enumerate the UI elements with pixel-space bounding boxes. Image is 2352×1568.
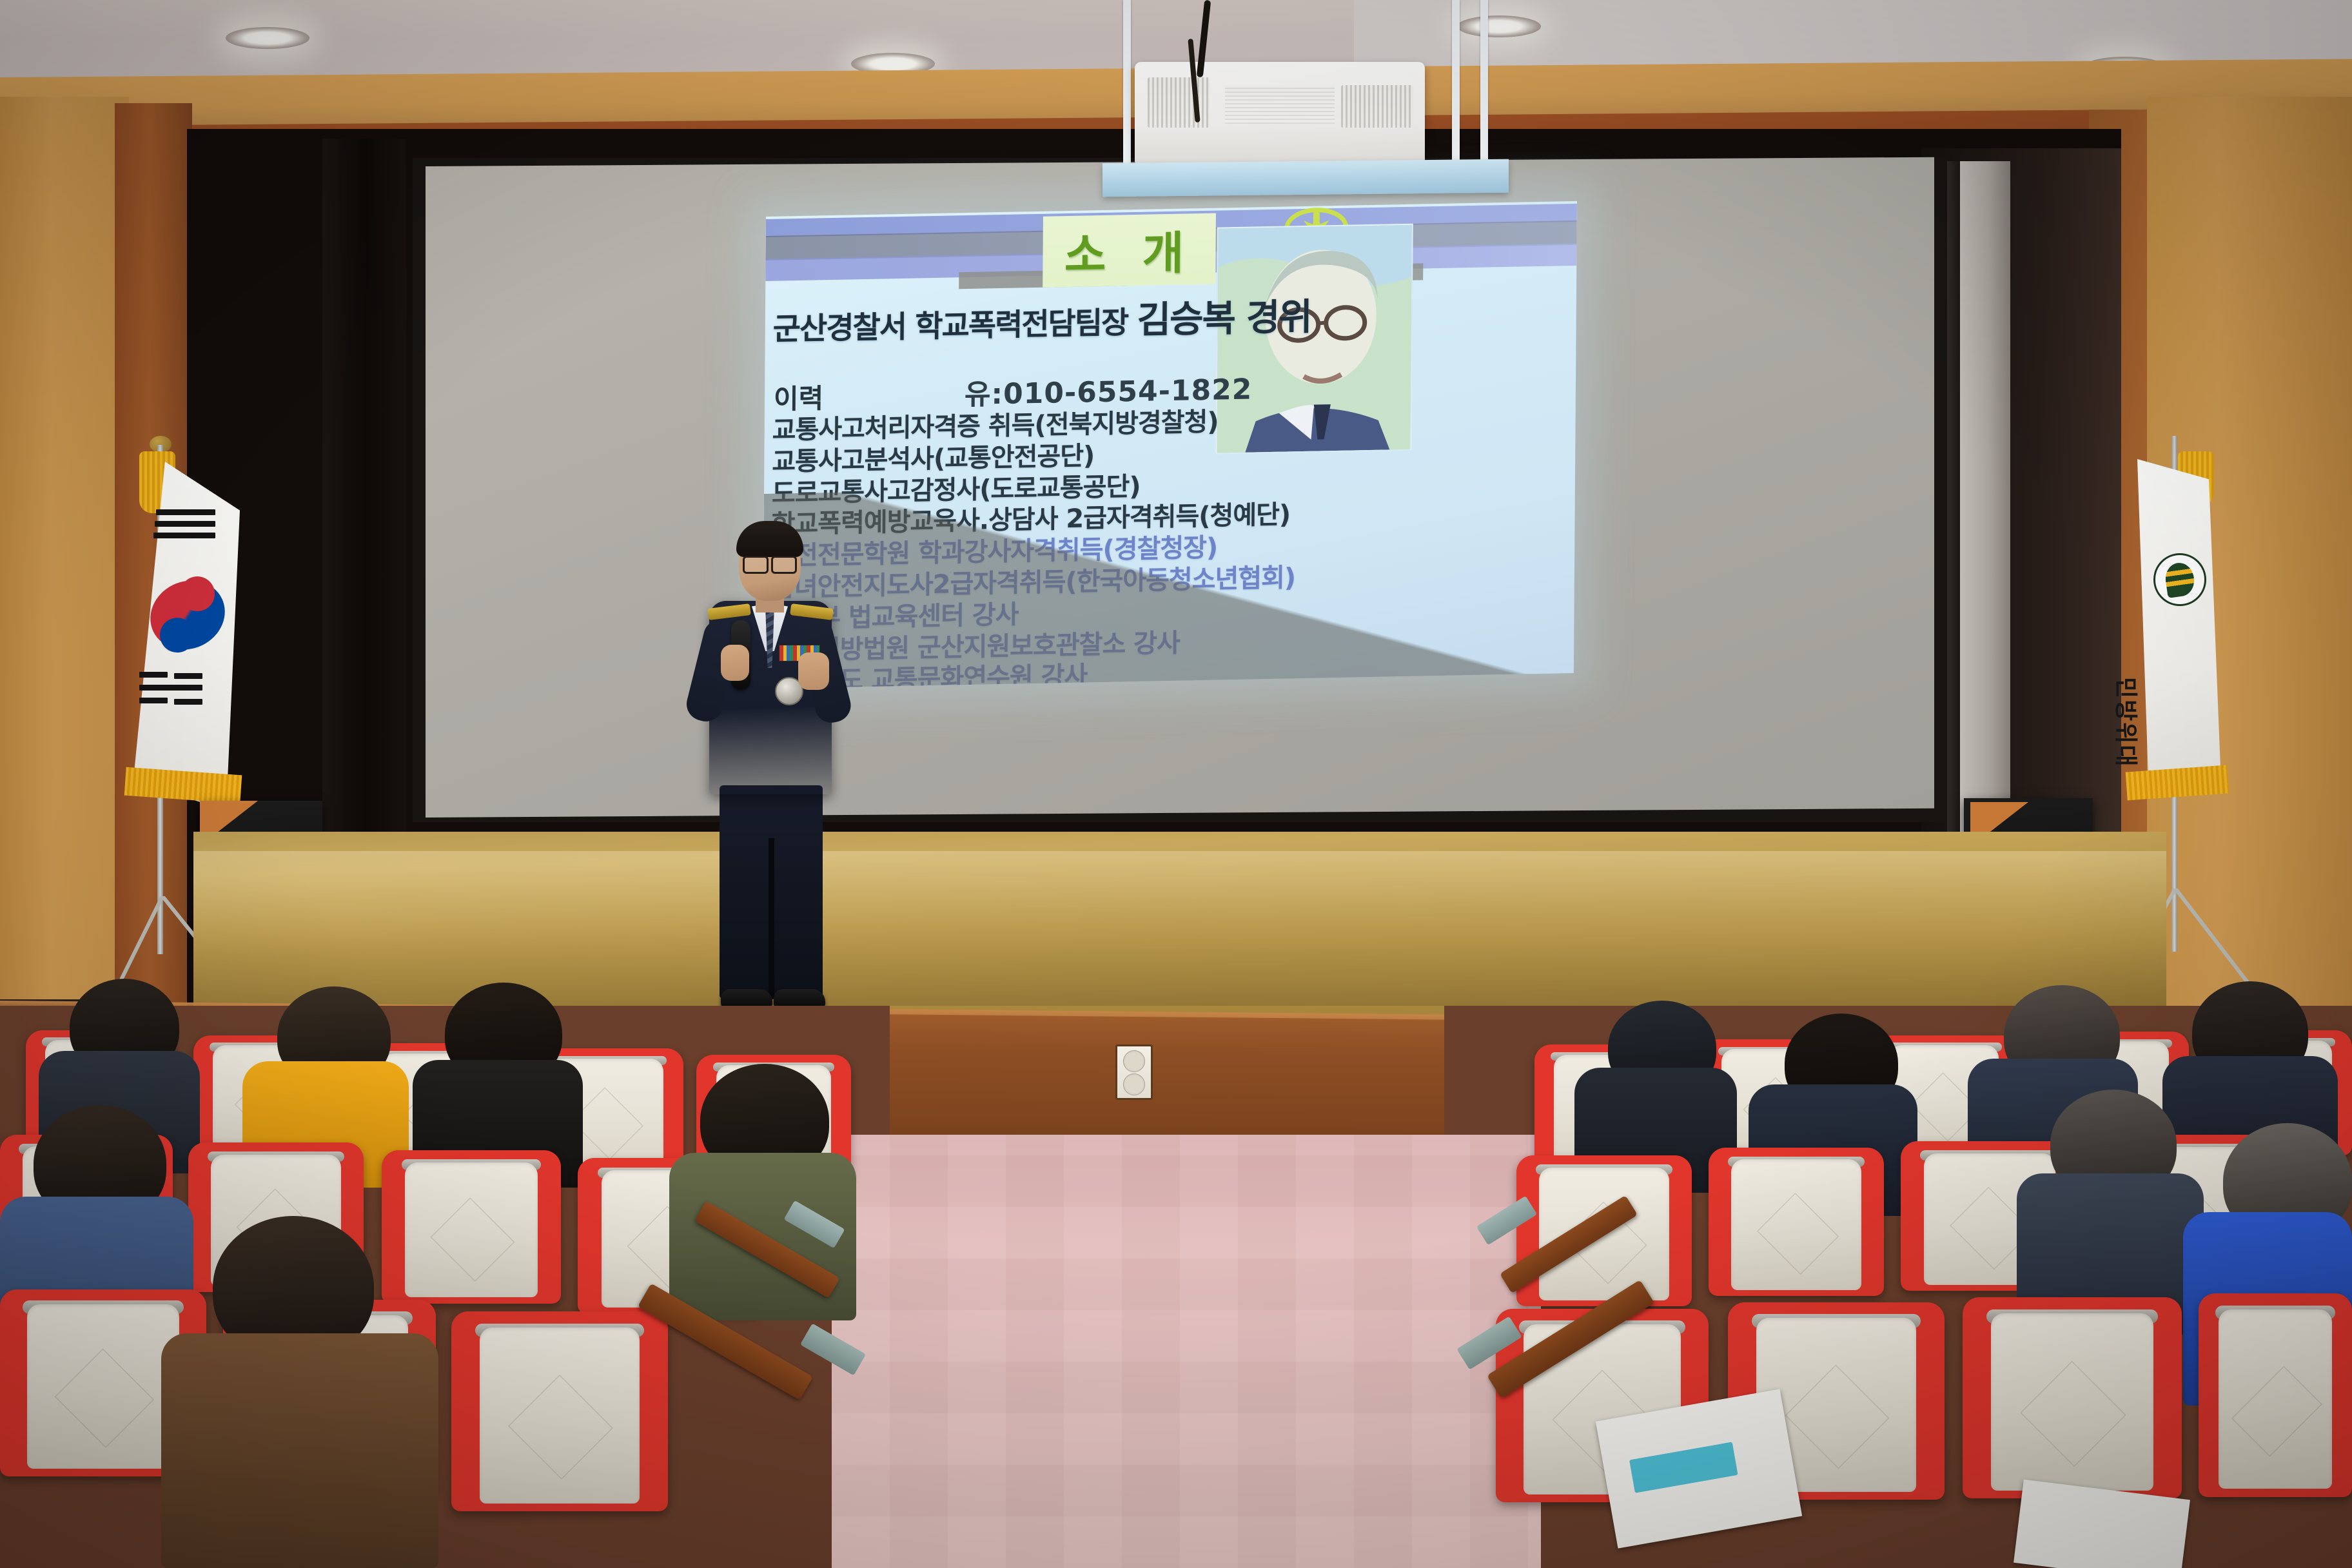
auditorium-seat[interactable] [1963,1297,2182,1498]
ceiling-projector [1135,62,1425,165]
ceiling-downlight [1457,15,1541,37]
left-wall-panel [0,97,129,999]
flag-trigram [155,521,215,527]
presenter-hand-left [721,645,749,681]
slide-heading-name: 김승복 경위 [1137,296,1311,342]
projector-vent [1341,85,1413,128]
auditorium-seat[interactable] [451,1311,668,1511]
auditorium-seat[interactable] [1709,1148,1884,1296]
projected-slide: 소 개 군산경 [763,201,1577,689]
flag-trigram [156,509,215,515]
auditorium-seat[interactable] [382,1150,561,1304]
ceiling-downlight [226,27,309,49]
presenter-leg-gap [769,838,774,999]
stage-floor-reflection [193,851,2166,1006]
attendee-body [161,1333,438,1568]
projector-mount-plate [1102,159,1509,197]
projector-port-panel [1225,85,1335,124]
slide-title: 소 개 [1064,217,1195,284]
carpet-tile-pattern [832,1135,1541,1568]
slide-history-label: 이력 [774,377,824,416]
wall-power-outlet[interactable] [1115,1044,1153,1100]
presenter-hand-right [798,652,829,690]
flag-trigram [174,673,202,679]
projector-mount-rod [1123,0,1131,169]
projector-mount-rod [1452,0,1460,169]
flag-trigram [139,672,168,678]
flag-trigram [174,699,202,705]
flag-trigram [139,698,168,703]
slide-phone-number: 유:010-6554-1822 [965,366,1253,413]
presenter-glasses-icon [743,556,797,570]
auditorium-scene: 소 개 군산경 [0,0,2352,1568]
slide-title-box: 소 개 [1043,213,1216,288]
slide-credential-list: 교통사고처리자격증 취득(전북지방경찰청) 교통사고분석사(교통안전공단) 도로… [770,401,1514,689]
projector-mount-rod [1480,0,1488,165]
civil-defense-emblem-icon [2153,553,2206,606]
flag-trigram [153,533,215,538]
auditorium-seat[interactable] [2199,1293,2352,1497]
projector-vent [1148,77,1210,128]
civil-defense-flag-text: 민방위대 [2111,677,2144,767]
flag-trigram [139,685,202,691]
slide-heading-office: 군산경찰서 학교폭력전담팀장 [773,305,1128,348]
